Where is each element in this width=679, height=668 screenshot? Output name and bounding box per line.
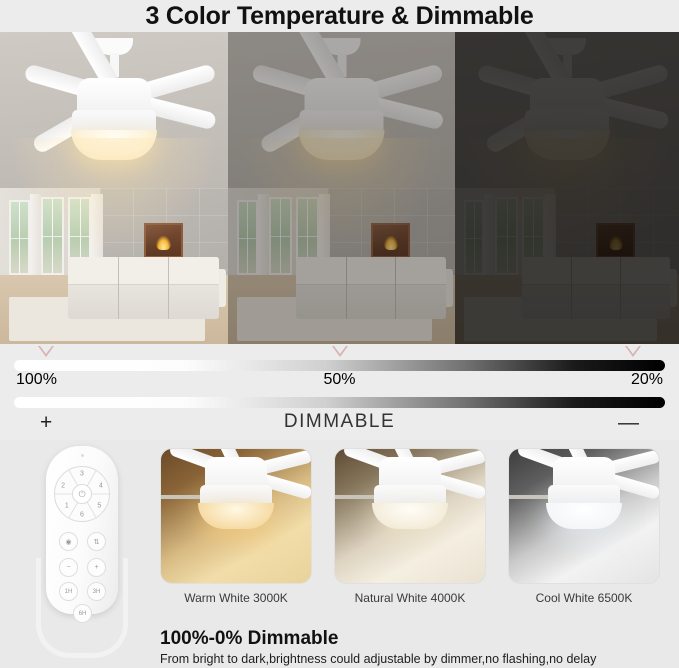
cool-white-card[interactable]: Cool White 6500K [508, 448, 660, 605]
footer-text: 100%-0% Dimmable From bright to dark,bri… [160, 628, 671, 666]
natural-white-card[interactable]: Natural White 4000K [334, 448, 486, 605]
increase-button[interactable]: + [87, 558, 106, 577]
brightness-gradient-bar-top[interactable] [14, 360, 665, 371]
cool-white-image [508, 448, 660, 584]
room-illustration [455, 32, 679, 344]
slider-marker-triangle[interactable] [625, 346, 641, 357]
page-title-bar: 3 Color Temperature & Dimmable [0, 0, 679, 32]
color-temperature-cards: Warm White 3000K Natural White 4000K [160, 448, 665, 605]
dial-number-1[interactable]: 1 [65, 502, 69, 509]
brightness-value-20: 20% [631, 371, 663, 389]
slider-marker-triangle[interactable] [38, 346, 54, 357]
dimmable-label-row: + DIMMABLE — [14, 408, 665, 438]
dial-number-6[interactable]: 6 [80, 511, 84, 518]
dimmable-label: DIMMABLE [284, 411, 395, 433]
medium-room-scene [228, 32, 455, 344]
footer-description: From bright to dark,brightness could adj… [160, 652, 671, 666]
warm-white-card[interactable]: Warm White 3000K [160, 448, 312, 605]
fire-glow [384, 236, 398, 250]
natural-white-image [334, 448, 486, 584]
slider-markers [14, 344, 665, 360]
window [269, 197, 292, 275]
timer-3h-button[interactable]: 3H [87, 582, 106, 601]
sofa [522, 257, 670, 319]
scene-comparison-strip [0, 32, 679, 344]
window [495, 197, 517, 275]
ir-emitter-icon [81, 454, 84, 457]
bright-room-scene [0, 32, 228, 344]
remote-control: 1 2 3 4 5 6 ⏻ ◉ ⇅ − + 1H 3H 6H [22, 440, 142, 668]
warm-white-label: Warm White 3000K [160, 591, 312, 605]
slider-marker-triangle[interactable] [332, 346, 348, 357]
fireplace [144, 223, 184, 258]
fan-light-dome [198, 503, 274, 529]
window [41, 197, 64, 275]
fire-glow [609, 236, 623, 250]
dial-number-2[interactable]: 2 [61, 483, 65, 490]
natural-white-label: Natural White 4000K [334, 591, 486, 605]
fireplace [371, 223, 410, 258]
sofa [68, 257, 219, 319]
page-title: 3 Color Temperature & Dimmable [145, 2, 533, 31]
room-illustration [0, 32, 228, 344]
brightness-percent-row: 100% 50% 20% [14, 371, 665, 397]
window [9, 200, 30, 275]
decrease-button[interactable]: − [59, 558, 78, 577]
warm-white-image [160, 448, 312, 584]
sofa [296, 257, 446, 319]
curtain [258, 194, 269, 278]
fireplace [596, 223, 635, 258]
dial-number-4[interactable]: 4 [99, 483, 103, 490]
fan-direction-button[interactable]: ⇅ [87, 532, 106, 551]
fan-light-dome [372, 503, 448, 529]
fan-light-dome [546, 503, 622, 529]
brightness-increase-icon[interactable]: + [40, 411, 52, 435]
curtain [30, 194, 41, 278]
brightness-value-50: 50% [323, 371, 355, 389]
brightness-value-100: 100% [16, 371, 57, 389]
power-button[interactable]: ⏻ [72, 484, 92, 504]
curtain [484, 194, 495, 278]
dim-room-scene [455, 32, 679, 344]
fan-speed-dial[interactable]: 1 2 3 4 5 6 ⏻ [54, 466, 110, 522]
cool-white-label: Cool White 6500K [508, 591, 660, 605]
dimmer-section: 100% 50% 20% + DIMMABLE — [0, 344, 679, 440]
light-toggle-button[interactable]: ◉ [59, 532, 78, 551]
timer-6h-button[interactable]: 6H [73, 604, 92, 623]
fire-glow [156, 236, 170, 250]
footer-heading: 100%-0% Dimmable [160, 628, 671, 650]
window [237, 200, 257, 275]
timer-1h-button[interactable]: 1H [59, 582, 78, 601]
window [464, 200, 484, 275]
remote-body: 1 2 3 4 5 6 ⏻ ◉ ⇅ − + 1H 3H 6H [46, 446, 118, 614]
brightness-decrease-icon[interactable]: — [618, 411, 639, 435]
room-illustration [228, 32, 455, 344]
dial-number-5[interactable]: 5 [97, 502, 101, 509]
lower-section: 1 2 3 4 5 6 ⏻ ◉ ⇅ − + 1H 3H 6H [0, 440, 679, 668]
brightness-gradient-bar-bottom[interactable] [14, 397, 665, 408]
dial-number-3[interactable]: 3 [80, 471, 84, 478]
